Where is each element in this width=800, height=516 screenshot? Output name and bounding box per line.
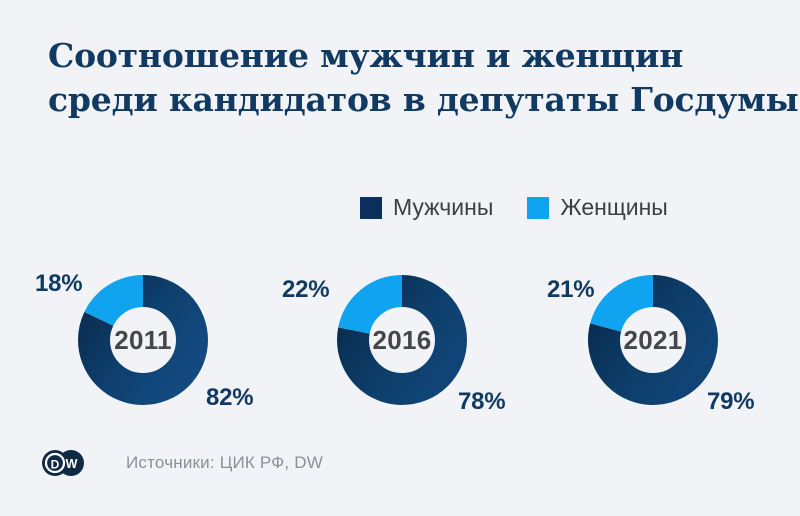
svg-text:W: W [66,457,78,471]
footer: D W Источники: ЦИК РФ, DW [40,450,323,476]
donut-2011-men-percent: 82% [206,384,253,412]
donut-chart-2011: 18% 2011 82% [13,262,273,432]
donut-2016-men-percent: 78% [458,388,505,416]
donut-2016-svg [337,275,467,405]
source-text: Источники: ЦИК РФ, DW [126,453,323,473]
donut-chart-2016: 22% 2016 78% [272,262,532,432]
legend-label-men: Мужчины [393,196,493,219]
infographic-root: Соотношение мужчин и женщин среди кандид… [0,0,800,516]
donut-2011-women-percent: 18% [35,270,82,298]
dw-logo-icon: D W [40,450,86,476]
donut-2011-ring: 2011 [78,275,208,405]
donut-chart-row: 18% 2011 82% [0,262,800,432]
donut-2016-women-percent: 22% [282,276,329,304]
svg-text:D: D [51,457,60,471]
donut-2021-ring: 2021 [588,275,718,405]
donut-chart-2021: 21% 2021 79% [523,262,783,432]
chart-legend: Мужчины Женщины [360,196,668,219]
legend-swatch-women-icon [527,197,549,219]
donut-2021-men-percent: 79% [707,388,754,416]
page-title-line-2: среди кандидатов в депутаты Госдумы [48,78,778,122]
legend-label-women: Женщины [560,196,667,219]
donut-2011-svg [78,275,208,405]
page-title-line-1: Соотношение мужчин и женщин [48,34,778,78]
page-title: Соотношение мужчин и женщин среди кандид… [48,34,778,122]
legend-swatch-men-icon [360,197,382,219]
donut-2021-svg [588,275,718,405]
legend-item-women: Женщины [527,196,667,219]
donut-2016-ring: 2016 [337,275,467,405]
legend-item-men: Мужчины [360,196,493,219]
